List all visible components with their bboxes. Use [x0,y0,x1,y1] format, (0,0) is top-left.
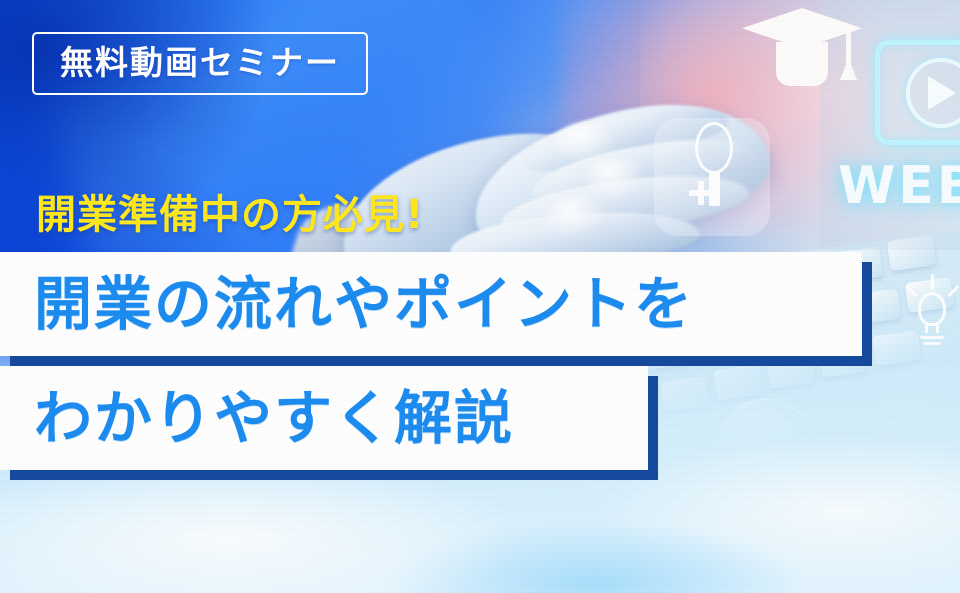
texture-overlay [0,0,960,593]
seminar-hero-banner: WEBINAR 無料動画セミナー 開業準備中の方必見! 開業の流れやポイントを [0,0,960,593]
